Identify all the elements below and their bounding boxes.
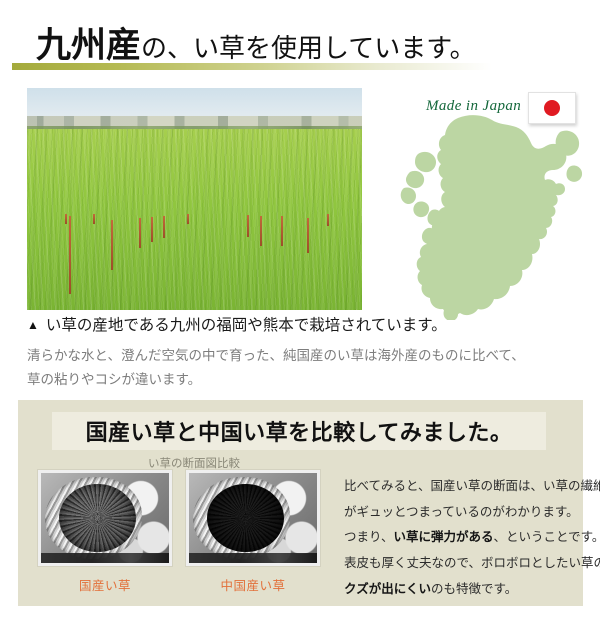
body-plain: つまり、 xyxy=(344,530,394,544)
sem-scale-strip xyxy=(189,553,317,563)
field-stake xyxy=(307,218,309,253)
comparison-header-band: 国産い草と中国い草を比較してみました。 xyxy=(52,412,546,450)
sample-chinese: 中国産い草 xyxy=(186,470,320,594)
kyushu-map-section: Made in Japan xyxy=(388,92,588,320)
field-stake xyxy=(281,216,283,246)
photo-grass-field xyxy=(27,129,362,310)
triangle-marker-icon: ▲ xyxy=(27,316,39,335)
igusa-field-photo xyxy=(27,88,362,310)
sample-domestic-image xyxy=(38,470,172,566)
comparison-header-text: 国産い草と中国い草を比較してみました。 xyxy=(86,415,513,447)
sample-domestic: 国産い草 xyxy=(38,470,172,594)
sem-scale-strip xyxy=(41,553,169,563)
field-stake xyxy=(65,214,67,224)
caption-subtext-line1: 清らかな水と、澄んだ空気の中で育った、純国産のい草は海外産のものに比べて、 xyxy=(27,344,527,368)
japan-flag-icon xyxy=(528,92,576,124)
comparison-body-line: がギュッとつまっているのがわかります。 xyxy=(344,500,576,526)
field-stake xyxy=(260,216,262,246)
flag-red-disc xyxy=(544,100,560,116)
comparison-body-line: クズが出にくいのも特徴です。 xyxy=(344,577,576,603)
sem-cross-section-chinese xyxy=(189,473,317,563)
caption-subtext: 清らかな水と、澄んだ空気の中で育った、純国産のい草は海外産のものに比べて、 草の… xyxy=(27,344,527,391)
field-stake xyxy=(187,214,189,224)
field-stake xyxy=(69,216,71,294)
product-info-page: 九州産の、い草を使用しています。 xyxy=(0,0,600,637)
field-stake xyxy=(327,214,329,226)
sample-chinese-label: 中国産い草 xyxy=(186,575,320,594)
body-plain: 、ということです。 xyxy=(494,530,600,544)
kyushu-map-icon xyxy=(388,110,588,320)
field-stake xyxy=(163,216,165,238)
page-title-rest: の、い草を使用しています。 xyxy=(141,34,476,63)
comparison-panel: 国産い草と中国い草を比較してみました。 い草の断面図比較 国産い草 xyxy=(18,400,583,606)
title-section: 九州産の、い草を使用しています。 xyxy=(0,0,600,80)
caption-subtext-line2: 草の粘りやコシが違います。 xyxy=(27,368,527,392)
made-in-japan-label: Made in Japan xyxy=(426,98,521,115)
body-plain: 表皮も厚く丈夫なので、ボロボロとしたい草の xyxy=(344,556,600,570)
sample-chinese-image xyxy=(186,470,320,566)
comparison-subheader: い草の断面図比較 xyxy=(114,455,274,471)
field-stake xyxy=(93,214,95,224)
sem-cross-section-domestic xyxy=(41,473,169,563)
field-stake xyxy=(139,218,141,248)
body-plain: のも特徴です。 xyxy=(431,582,517,596)
field-stake xyxy=(151,217,153,242)
comparison-body-text: 比べてみると、国産い草の断面は、い草の繊維 がギュッとつまっているのがわかります… xyxy=(344,474,576,602)
field-stake xyxy=(111,220,113,270)
body-plain: 比べてみると、国産い草の断面は、い草の繊維 xyxy=(344,479,600,493)
comparison-body-line: つまり、い草に弾力がある、ということです。 xyxy=(344,525,576,551)
sem-fiber-core xyxy=(59,484,136,552)
photo-caption: ▲ い草の産地である九州の福岡や熊本で栽培されています。 清らかな水と、澄んだ空… xyxy=(27,316,547,391)
body-bold: い草に弾力がある xyxy=(394,530,494,544)
caption-headline: い草の産地である九州の福岡や熊本で栽培されています。 xyxy=(46,316,447,337)
title-underline-bar xyxy=(12,63,492,70)
sample-domestic-label: 国産い草 xyxy=(38,575,172,594)
microscope-image-group: 国産い草 中国産い草 xyxy=(38,470,320,594)
comparison-body-line: 表皮も厚く丈夫なので、ボロボロとしたい草の xyxy=(344,551,576,577)
page-title-emphasis: 九州産 xyxy=(36,26,141,65)
body-bold: クズが出にくい xyxy=(344,582,431,596)
sem-fiber-core xyxy=(207,484,284,552)
field-stake xyxy=(247,215,249,237)
comparison-body-line: 比べてみると、国産い草の断面は、い草の繊維 xyxy=(344,474,576,500)
page-title: 九州産の、い草を使用しています。 xyxy=(36,17,476,68)
body-plain: がギュッとつまっているのがわかります。 xyxy=(344,505,579,519)
caption-headline-row: ▲ い草の産地である九州の福岡や熊本で栽培されています。 xyxy=(27,316,547,337)
